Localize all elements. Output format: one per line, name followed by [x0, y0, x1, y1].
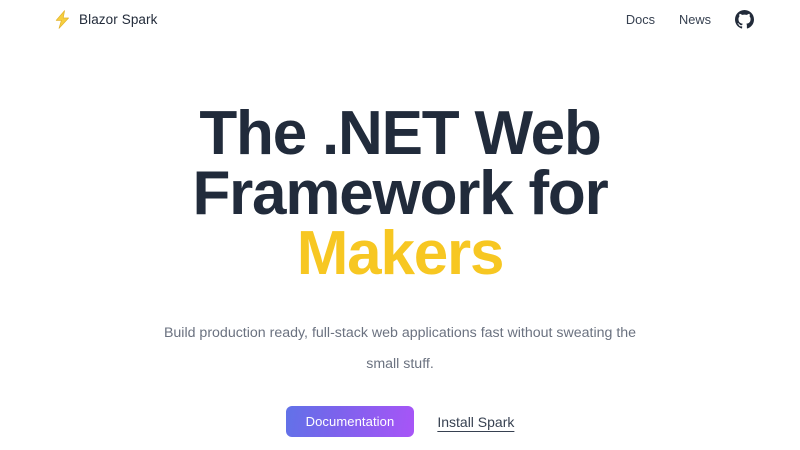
page-title: The .NET Web Framework for Makers [192, 104, 607, 284]
primary-nav: Docs News [626, 10, 754, 29]
headline-accent-word: Makers [297, 219, 504, 288]
lightning-bolt-icon [54, 10, 71, 29]
hero-section: The .NET Web Framework for Makers Build … [0, 38, 800, 450]
headline-line-1: The .NET Web [199, 99, 600, 168]
install-spark-link[interactable]: Install Spark [437, 414, 514, 430]
landing-page: Blazor Spark Docs News The .NET Web Fram… [0, 0, 800, 450]
github-icon[interactable] [735, 10, 754, 29]
documentation-button[interactable]: Documentation [286, 406, 415, 437]
brand-logo-link[interactable]: Blazor Spark [54, 10, 157, 29]
brand-name: Blazor Spark [79, 12, 157, 27]
site-header: Blazor Spark Docs News [0, 0, 800, 38]
hero-subtitle: Build production ready, full-stack web a… [157, 318, 643, 380]
cta-button-row: Documentation Install Spark [286, 406, 515, 437]
nav-link-docs[interactable]: Docs [626, 12, 655, 27]
headline-line-2: Framework for [192, 159, 607, 228]
nav-link-news[interactable]: News [679, 12, 711, 27]
